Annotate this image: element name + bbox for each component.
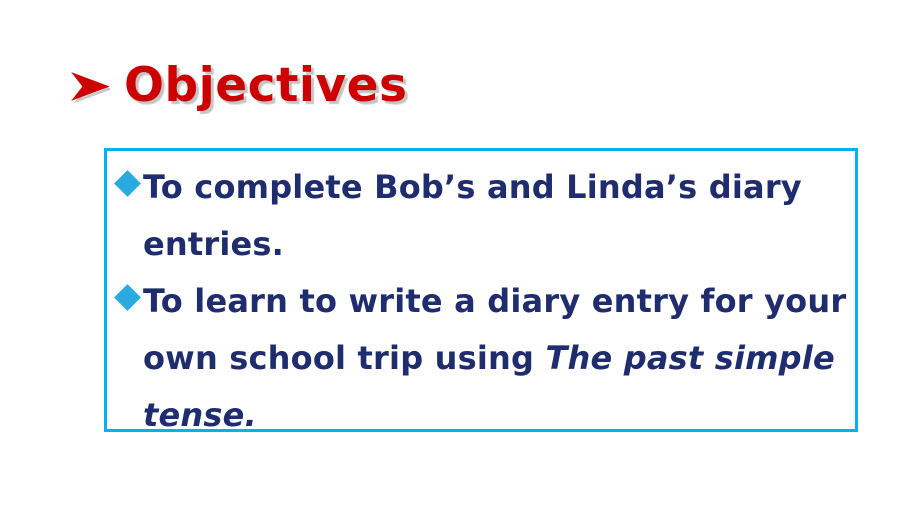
objective-1-line-2: entries. [143, 225, 284, 263]
slide-canvas: Objectives To complete Bob’s and Linda’s… [0, 0, 920, 518]
objective-item: To complete Bob’s and Linda’s diary entr… [114, 159, 854, 273]
slide-title-row: Objectives [70, 62, 408, 109]
arrow-bullet-icon [70, 69, 110, 103]
objectives-box: To complete Bob’s and Linda’s diary entr… [104, 148, 858, 432]
objectives-list: To complete Bob’s and Linda’s diary entr… [114, 159, 854, 444]
objective-1-line-1: To complete Bob’s and Linda’s diary [143, 168, 802, 206]
objective-item: To learn to write a diary entry for your… [114, 273, 854, 444]
diamond-bullet-icon [114, 285, 140, 311]
objective-text: To learn to write a diary entry for your… [143, 273, 854, 444]
page-title: Objectives [124, 62, 408, 109]
objective-text: To complete Bob’s and Linda’s diary entr… [143, 159, 854, 273]
objective-2-italic-term-a: The past [545, 339, 703, 377]
objective-2-line-1: To learn to write a diary entry for [143, 282, 753, 320]
diamond-bullet-icon [114, 171, 140, 197]
